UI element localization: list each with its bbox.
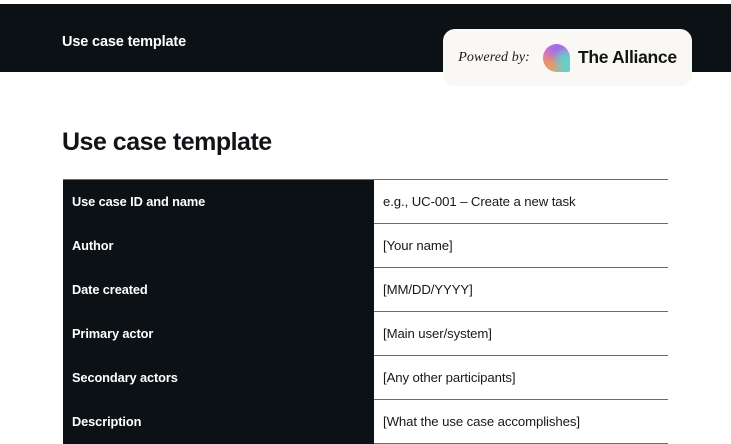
row-field-label: Secondary actors	[63, 356, 374, 400]
row-field-value[interactable]: [What the use case accomplishes]	[374, 400, 668, 444]
use-case-table-body: Use case ID and name e.g., UC-001 – Crea…	[63, 180, 668, 444]
table-row: Secondary actors [Any other participants…	[63, 356, 668, 400]
row-field-label: Author	[63, 224, 374, 268]
use-case-table: Use case ID and name e.g., UC-001 – Crea…	[63, 179, 668, 444]
brand-lockup: The Alliance	[543, 44, 677, 72]
row-field-label: Primary actor	[63, 312, 374, 356]
row-field-label: Date created	[63, 268, 374, 312]
page-title: Use case template	[62, 128, 272, 157]
row-field-label: Description	[63, 400, 374, 444]
row-field-label: Use case ID and name	[63, 180, 374, 224]
row-field-value[interactable]: [Main user/system]	[374, 312, 668, 356]
table-row: Date created [MM/DD/YYYY]	[63, 268, 668, 312]
brand-name-label: The Alliance	[578, 47, 677, 68]
powered-by-badge[interactable]: Powered by: The Alliance	[443, 29, 692, 86]
row-field-value[interactable]: [Any other participants]	[374, 356, 668, 400]
alliance-gradient-logo-icon	[543, 44, 570, 72]
table-row: Description [What the use case accomplis…	[63, 400, 668, 444]
table-row: Author [Your name]	[63, 224, 668, 268]
powered-by-label: Powered by:	[458, 50, 530, 66]
header-document-title: Use case template	[62, 34, 186, 50]
row-field-value[interactable]: [MM/DD/YYYY]	[374, 268, 668, 312]
table-row: Primary actor [Main user/system]	[63, 312, 668, 356]
table-row: Use case ID and name e.g., UC-001 – Crea…	[63, 180, 668, 224]
row-field-value[interactable]: e.g., UC-001 – Create a new task	[374, 180, 668, 224]
row-field-value[interactable]: [Your name]	[374, 224, 668, 268]
